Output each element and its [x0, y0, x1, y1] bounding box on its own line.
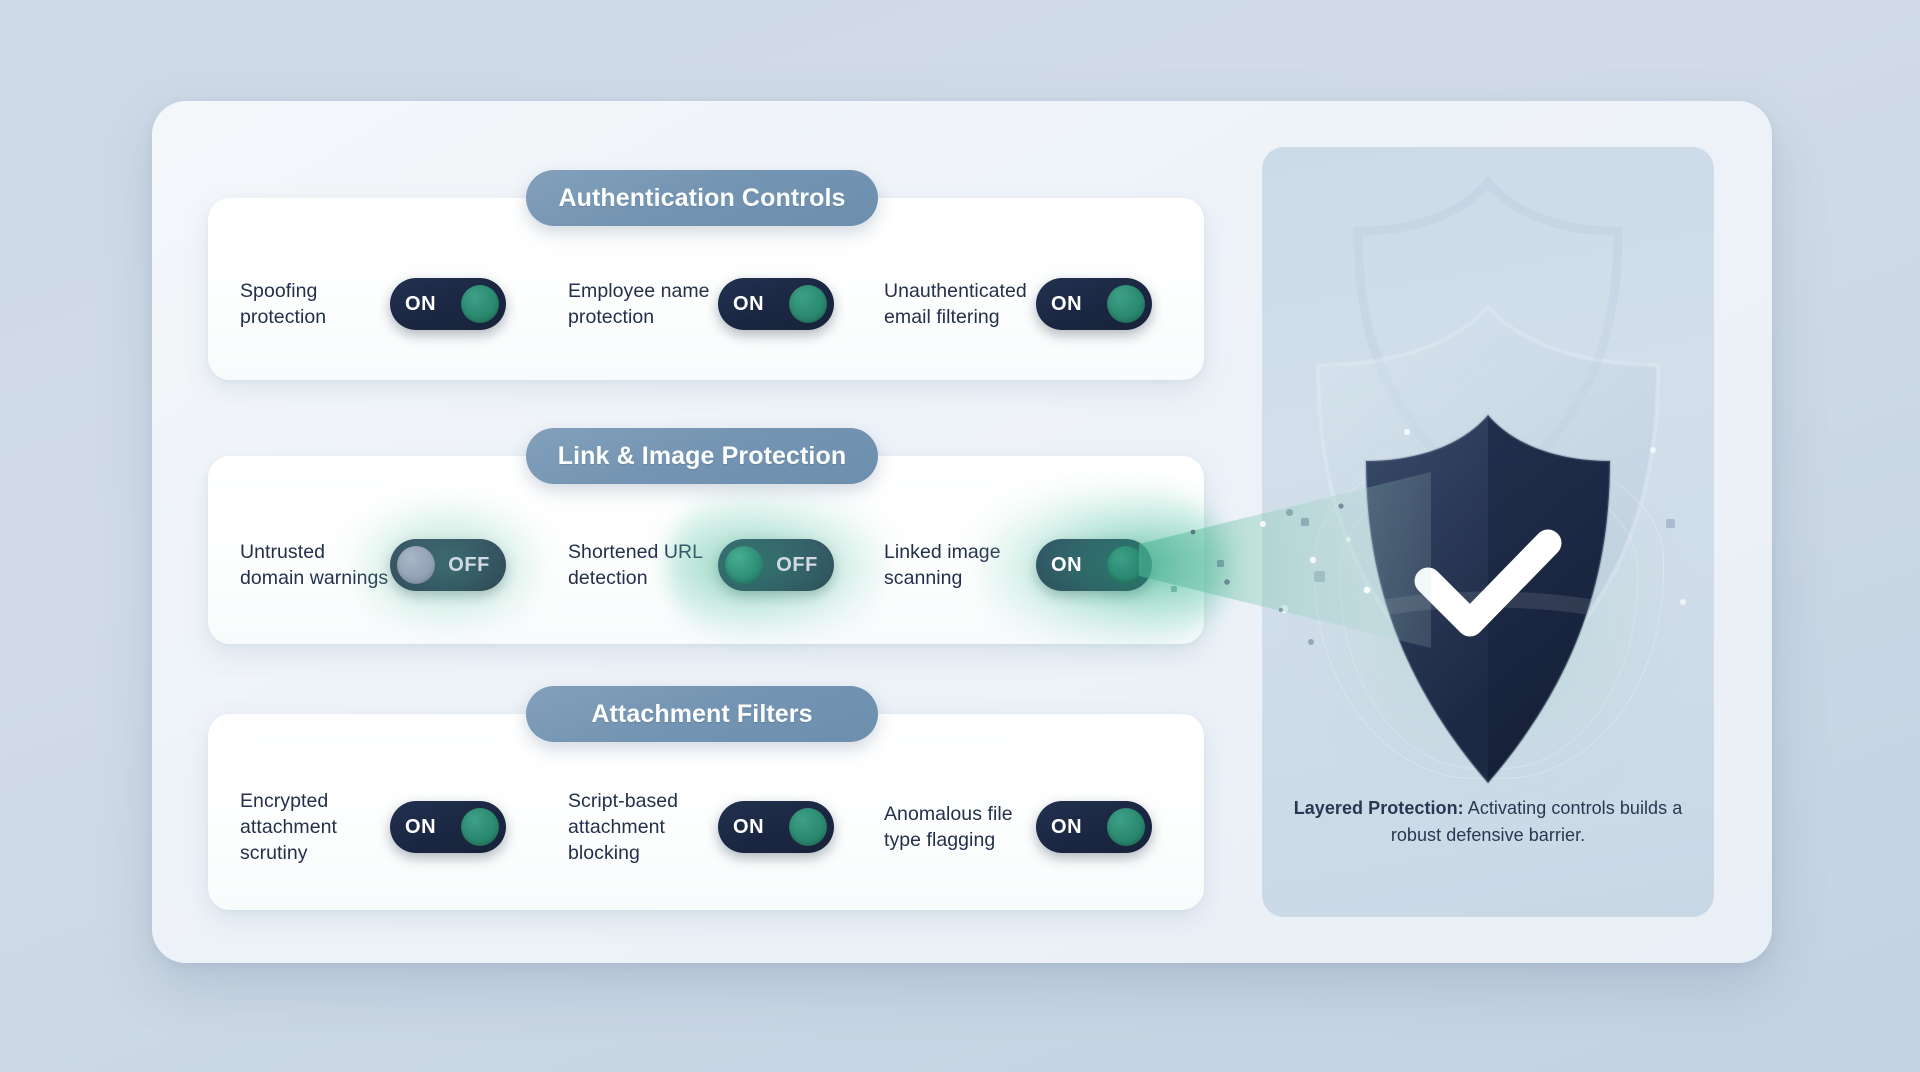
shield-illustration-panel: Layered Protection: Activating controls …	[1262, 147, 1714, 917]
toggle-encrypted-attachment-scrutiny[interactable]: ON	[390, 801, 506, 853]
toggle-knob	[789, 285, 827, 323]
section-title-authentication-controls: Authentication Controls	[526, 170, 878, 226]
toggle-employee-name-protection[interactable]: ON	[718, 278, 834, 330]
control-label: Unauthenticated email filtering	[884, 278, 1036, 330]
control-spoofing-protection[interactable]: Spoofing protection ON	[240, 278, 506, 330]
control-unauthenticated-email-filtering[interactable]: Unauthenticated email filtering ON	[884, 278, 1152, 330]
toggle-knob	[1107, 285, 1145, 323]
toggle-state-text: ON	[1051, 816, 1082, 839]
control-label: Spoofing protection	[240, 278, 390, 330]
control-script-based-attachment-blocking[interactable]: Script-based attachment blocking ON	[568, 788, 834, 866]
control-label: Anomalous file type flagging	[884, 801, 1036, 853]
control-linked-image-scanning[interactable]: Linked image scanning ON	[884, 539, 1152, 591]
toggle-knob	[461, 808, 499, 846]
caption-heading: Layered Protection:	[1294, 798, 1464, 818]
toggle-state-text: OFF	[776, 554, 818, 577]
control-employee-name-protection[interactable]: Employee name protection ON	[568, 278, 834, 330]
control-anomalous-file-type-flagging[interactable]: Anomalous file type flagging ON	[884, 801, 1152, 853]
toggle-knob	[725, 546, 763, 584]
toggle-unauthenticated-email-filtering[interactable]: ON	[1036, 278, 1152, 330]
toggle-state-text: ON	[1051, 293, 1082, 316]
shield-check-icon	[1358, 409, 1618, 789]
control-shortened-url-detection[interactable]: Shortened URL detection OFF	[568, 539, 834, 591]
toggle-state-text: ON	[405, 816, 436, 839]
toggle-linked-image-scanning[interactable]: ON	[1036, 539, 1152, 591]
toggle-knob	[1107, 808, 1145, 846]
control-label: Shortened URL detection	[568, 539, 718, 591]
toggle-state-text: ON	[733, 816, 764, 839]
toggle-state-text: ON	[405, 293, 436, 316]
particle	[1680, 599, 1686, 605]
control-label: Encrypted attachment scrutiny	[240, 788, 390, 866]
toggle-anomalous-file-type-flagging[interactable]: ON	[1036, 801, 1152, 853]
section-title-attachment-filters: Attachment Filters	[526, 686, 878, 742]
control-label: Script-based attachment blocking	[568, 788, 718, 866]
control-label: Linked image scanning	[884, 539, 1036, 591]
toggle-state-text: ON	[1051, 554, 1082, 577]
panel-caption: Layered Protection: Activating controls …	[1284, 795, 1692, 849]
control-label: Employee name protection	[568, 278, 718, 330]
control-row-group: Encrypted attachment scrutiny ON Script-…	[208, 744, 1204, 910]
toggle-knob	[397, 546, 435, 584]
particle	[1286, 509, 1293, 516]
toggle-knob	[461, 285, 499, 323]
toggle-script-based-attachment-blocking[interactable]: ON	[718, 801, 834, 853]
particle	[1280, 605, 1288, 613]
toggle-spoofing-protection[interactable]: ON	[390, 278, 506, 330]
control-encrypted-attachment-scrutiny[interactable]: Encrypted attachment scrutiny ON	[240, 788, 506, 866]
settings-column: Authentication Controls Spoofing protect…	[208, 170, 1208, 910]
screenshot-root: Authentication Controls Spoofing protect…	[0, 0, 1920, 1072]
toggle-knob	[1107, 546, 1145, 584]
control-label: Untrusted domain warnings	[240, 539, 390, 591]
control-untrusted-domain-warnings[interactable]: Untrusted domain warnings OFF	[240, 539, 506, 591]
control-row-group: Spoofing protection ON Employee name pro…	[208, 228, 1204, 380]
toggle-knob	[789, 808, 827, 846]
control-row-group: Untrusted domain warnings OFF Shortened …	[208, 486, 1204, 644]
toggle-state-text: OFF	[448, 554, 490, 577]
toggle-state-text: ON	[733, 293, 764, 316]
toggle-shortened-url-detection[interactable]: OFF	[718, 539, 834, 591]
toggle-untrusted-domain-warnings[interactable]: OFF	[390, 539, 506, 591]
section-title-link-image-protection: Link & Image Protection	[526, 428, 878, 484]
